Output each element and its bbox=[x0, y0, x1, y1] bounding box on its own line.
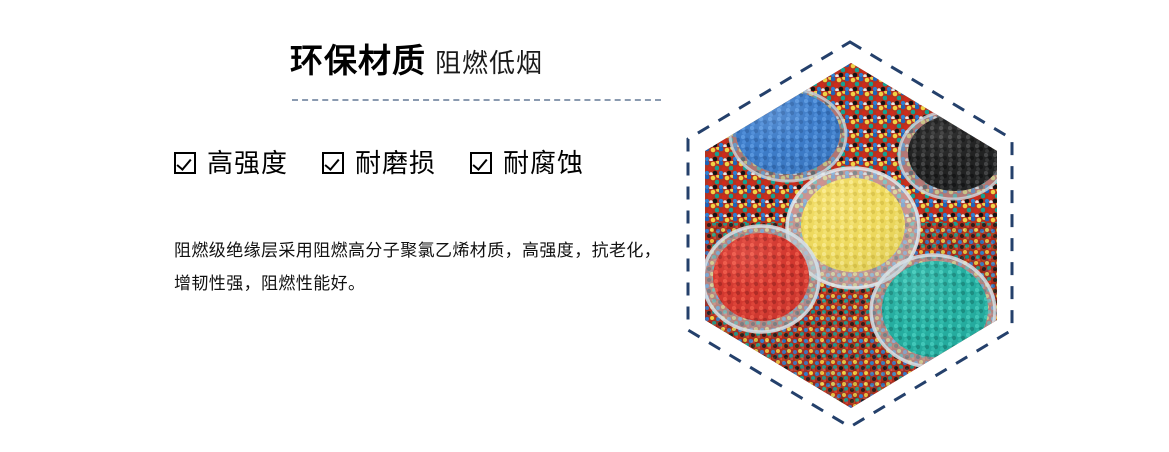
body-description: 阻燃级绝缘层采用阻燃高分子聚氯乙烯材质，高强度，抗老化，增韧性强，阻燃性能好。 bbox=[174, 234, 674, 300]
feature-list: 高强度 耐磨损 耐腐蚀 bbox=[174, 150, 584, 176]
feature-item-corrosion-resistance: 耐腐蚀 bbox=[470, 150, 584, 176]
feature-label: 高强度 bbox=[207, 150, 288, 176]
page-title: 环保材质 阻燃低烟 bbox=[168, 44, 668, 88]
checked-box-icon bbox=[174, 152, 196, 174]
title-primary: 环保材质 bbox=[290, 44, 426, 77]
feature-item-strength: 高强度 bbox=[174, 150, 288, 176]
product-feature-banner: 环保材质 阻燃低烟 高强度 耐磨损 耐腐蚀 阻燃级绝缘层采用阻燃高分子聚氯乙烯材… bbox=[0, 0, 1169, 452]
bowl-red bbox=[705, 226, 819, 332]
feature-item-wear-resistance: 耐磨损 bbox=[322, 150, 436, 176]
title-divider bbox=[292, 99, 661, 101]
checked-box-icon bbox=[322, 152, 344, 174]
feature-label: 耐腐蚀 bbox=[503, 150, 584, 176]
text-column: 环保材质 阻燃低烟 高强度 耐磨损 耐腐蚀 阻燃级绝缘层采用阻燃高分子聚氯乙烯材… bbox=[168, 44, 668, 88]
checked-box-icon bbox=[470, 152, 492, 174]
hexagon-figure bbox=[686, 40, 1014, 429]
feature-label: 耐磨损 bbox=[355, 150, 436, 176]
title-secondary: 阻燃低烟 bbox=[435, 50, 543, 76]
